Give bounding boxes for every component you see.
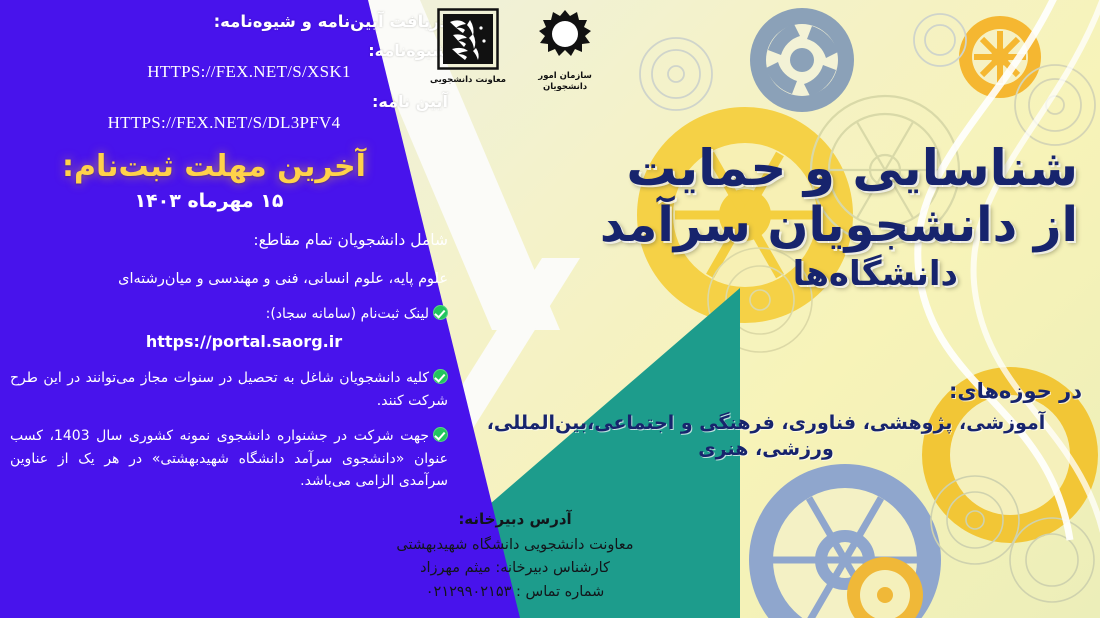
gear-blue-bottom — [749, 464, 941, 618]
poster-root: دریافت آیین‌نامه و شیوه‌نامه: شیوه‌نامه:… — [0, 0, 1100, 618]
logo-caption: معاونت دانشجویی — [430, 75, 506, 86]
gear-outline-bottom-1 — [931, 476, 1019, 564]
registration-link[interactable]: https://portal.saorg.ir — [10, 329, 448, 355]
deadline-label: آخرین مهلت ثبت‌نام: — [10, 149, 418, 184]
bullet-text: جهت شرکت در جشنواره دانشجوی نمونه کشوری … — [10, 428, 448, 489]
logo-student-affairs: سازمان امور دانشجویان — [534, 8, 596, 94]
secretariat-line-2: کارشناس دبیرخانه: میثم مهرزاد — [330, 557, 700, 580]
guideline-url[interactable]: HTTPS://FEX.NET/S/XSK1 — [10, 62, 448, 82]
check-circle-icon — [433, 305, 448, 320]
bullet-text: لینک ثبت‌نام (سامانه سجاد): — [266, 306, 429, 322]
secretariat-line-1: معاونت دانشجویی دانشگاه شهید‌بهشتی — [330, 534, 700, 557]
page-title: شناسایی و حمایت از دانشجویان سرآمد دانشگ… — [478, 140, 1078, 294]
gear-outline-small-2 — [914, 14, 966, 66]
fields-section: در حوزه‌های: آموزشی، پژوهشی، فناوری، فره… — [442, 378, 1082, 463]
list-item: جهت شرکت در جشنواره دانشجوی نمونه کشوری … — [10, 425, 448, 492]
list-item: کلیه دانشجویان شاغل به تحصیل در سنوات مج… — [10, 367, 448, 412]
secretariat-title: آدرس دبیرخانه: — [330, 507, 700, 531]
guideline-label: شیوه‌نامه: — [10, 41, 448, 60]
regulation-label: آیین نامه: — [10, 92, 448, 111]
eligibility-line-2: علوم پایه، علوم انسانی، فنی و مهندسی و م… — [10, 268, 448, 290]
regulation-url[interactable]: HTTPS://FEX.NET/S/DL3PFV4 — [10, 113, 448, 133]
fields-label: در حوزه‌های: — [442, 378, 1082, 405]
list-item: لینک ثبت‌نام (سامانه سجاد): https://port… — [10, 303, 448, 354]
download-header: دریافت آیین‌نامه و شیوه‌نامه: — [10, 12, 448, 31]
student-affairs-organization-logo-icon — [534, 8, 596, 66]
logo-shahid-beheshti: معاونت دانشجویی — [430, 8, 506, 86]
logo-row: معاونت دانشجویی سازمان امور دانشجویان — [430, 8, 660, 112]
logo-caption: سازمان امور دانشجویان — [538, 71, 592, 94]
gear-outline-small-3 — [1015, 65, 1095, 145]
fields-list: آموزشی، پژوهشی، فناوری، فرهنگی و اجتماعی… — [442, 411, 1082, 462]
gear-orange-bottom — [847, 557, 923, 618]
title-line-2: از دانشجویان سرآمد — [478, 198, 1078, 253]
white-swoosh-decoration — [770, 0, 1100, 618]
gear-outline-bottom-2 — [1010, 518, 1094, 602]
secretariat-phone: شماره تماس : ۰۲۱۲۹۹۰۲۱۵۳ — [330, 581, 700, 604]
deadline-date: ۱۵ مهرماه ۱۴۰۳ — [10, 190, 408, 212]
eligibility-line-1: شامل دانشجویان تمام مقاطع: — [10, 228, 448, 252]
bullet-text: کلیه دانشجویان شاغل به تحصیل در سنوات مج… — [10, 370, 448, 408]
title-line-1: شناسایی و حمایت — [478, 140, 1078, 196]
gear-orange-small — [959, 16, 1041, 98]
shahid-beheshti-university-logo-icon — [437, 8, 499, 70]
secretariat-block: آدرس دبیرخانه: معاونت دانشجویی دانشگاه ش… — [330, 507, 700, 604]
gear-blue-top — [750, 8, 854, 112]
title-line-3: دانشگاه‌ها — [478, 255, 1078, 294]
